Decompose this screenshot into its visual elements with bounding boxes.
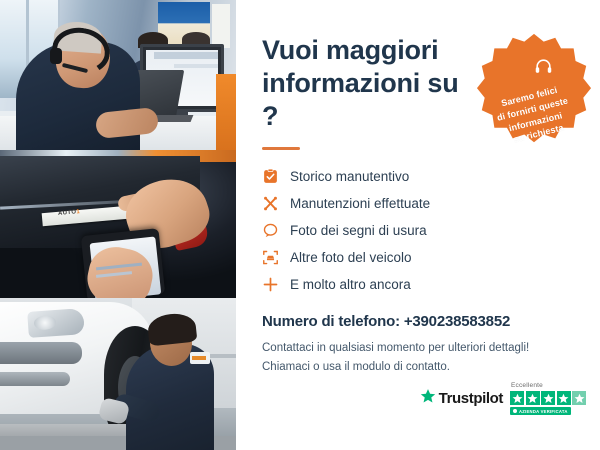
monitor-screen-bar [154,52,218,59]
list-item-label: Storico manutentivo [290,169,409,184]
trustpilot-star-filled [557,391,571,405]
list-item: Altre foto del veicolo [262,245,578,270]
camera-frame-icon [262,249,279,266]
list-item: Foto dei segni di usura [262,218,578,243]
list-item: Manutenzioni effettuate [262,191,578,216]
trustpilot-stars [510,391,586,405]
lower-grille [0,372,70,386]
trustpilot-widget[interactable]: Trustpilot Eccellente [420,382,586,415]
bumper-inspection-photo: AUTO1 [0,150,236,298]
list-item-label: Manutenzioni effettuate [290,196,430,211]
feature-list: Storico manutentivo Manutenzi [262,164,578,297]
contact-subtext-line-2: Chiamaci o usa il modulo di contatto. [262,358,578,377]
headlight [27,308,85,338]
trustpilot-star-partial [572,391,586,405]
list-item-label: Foto dei segni di usura [290,223,427,238]
trustpilot-star-filled [541,391,555,405]
check-circle-icon [513,409,517,413]
list-item-label: Altre foto del veicolo [290,250,412,265]
contact-subtext: Contattaci in qualsiasi momento per ulte… [262,339,578,377]
contact-subtext-line-1: Contattaci in qualsiasi momento per ulte… [262,339,578,358]
list-item: E molto altro ancora [262,272,578,297]
trustpilot-wordmark: Trustpilot [439,390,503,407]
trustpilot-rating: Eccellente [510,382,586,415]
vehicle-info-banner: AUTO1 Vuoi maggiori i [0,0,600,450]
verified-business-label: AZIENDA VERIFICATA [519,409,568,414]
list-item-label: E molto altro ancora [290,277,411,292]
orange-accent-strip [216,74,236,150]
phone-number: Numero di telefono: +390238583852 [262,313,578,330]
title-underline-rule [262,147,300,150]
plus-icon [262,276,279,293]
page-title: Vuoi maggiori informazioni su ? [262,34,477,133]
trustpilot-star-icon [420,388,436,409]
mechanic-wheel-photo [0,298,236,450]
speech-bubble-icon [262,222,279,239]
headset-earpad [50,48,62,64]
wrench-cross-icon [262,195,279,212]
call-center-photo [0,0,236,150]
trustpilot-star-filled [510,391,524,405]
verified-business-badge: AZIENDA VERIFICATA [510,407,571,415]
clipboard-check-icon [262,168,279,185]
request-info-badge: Saremo felici di fornirti queste informa… [476,32,592,148]
monitor-screen-bar-2 [174,64,218,68]
list-item: Storico manutentivo [262,164,578,189]
wall-poster-secondary [212,4,230,48]
trustpilot-rating-label: Eccellente [511,382,543,389]
front-grille [0,342,82,364]
photo-column: AUTO1 [0,0,236,450]
trustpilot-star-filled [526,391,540,405]
trustpilot-logo[interactable]: Trustpilot [420,388,503,409]
uniform-logo-patch [190,352,210,364]
content-panel: Vuoi maggiori informazioni su ? Storico … [236,0,600,450]
